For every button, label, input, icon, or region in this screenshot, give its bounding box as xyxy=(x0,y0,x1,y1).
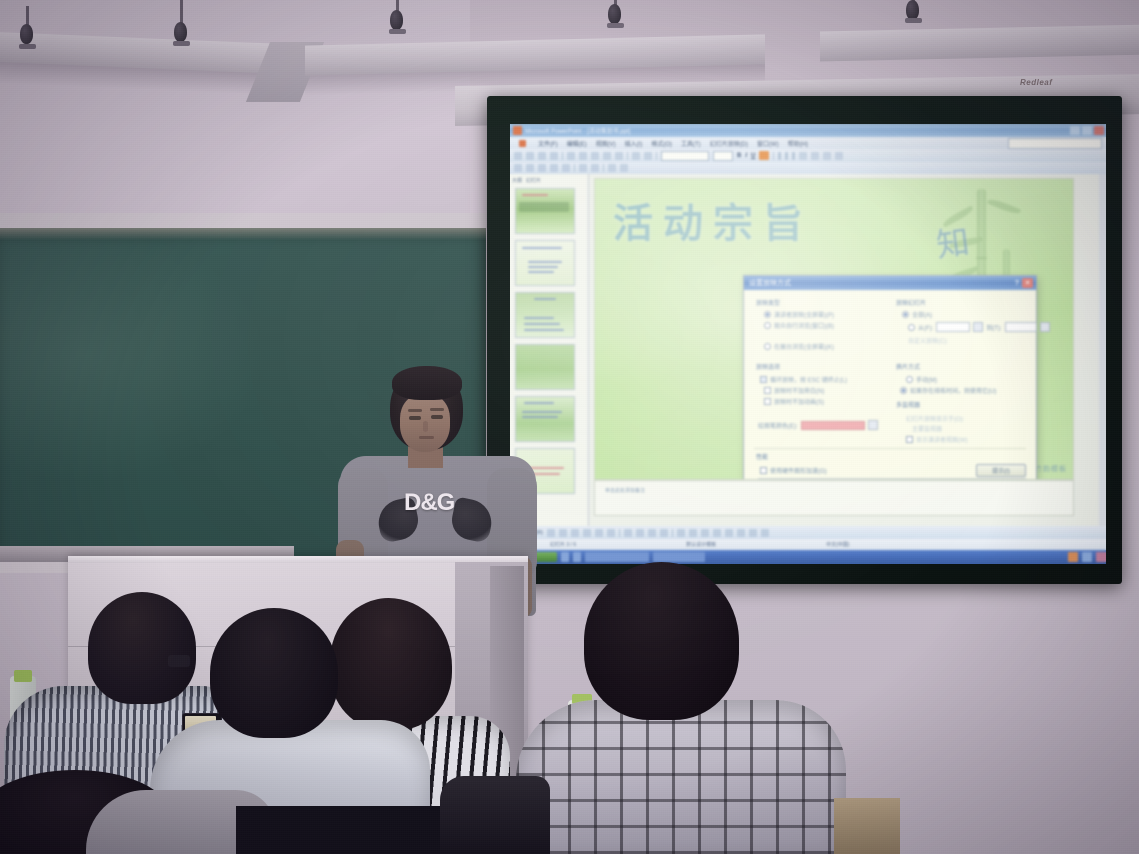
thumbnail-list[interactable]: 1 2 3 xyxy=(515,188,577,500)
align-right-icon[interactable] xyxy=(792,152,795,160)
radio-icon xyxy=(906,376,913,383)
status-bar: 幻灯片 3 / 6 默认设计模板 中文(中国) xyxy=(510,539,1106,550)
option-label: 在展台浏览(全屏幕)(K) xyxy=(774,342,834,351)
radio-icon xyxy=(764,311,771,318)
radio-browsed-by-individual[interactable]: 观众自行浏览(窗口)(B) xyxy=(764,321,834,330)
3d-style-icon[interactable] xyxy=(761,529,769,537)
taskbar-item-folder[interactable] xyxy=(653,552,705,562)
light-base xyxy=(905,18,922,23)
audience-member-vertical-striped-head xyxy=(330,598,452,730)
rectangle-icon[interactable] xyxy=(583,529,591,537)
setup-show-dialog[interactable]: 设置放映方式 ? ✕ 放映类型 演讲者放映(全屏幕)(P) xyxy=(743,275,1037,480)
pen-color-swatch[interactable] xyxy=(801,421,865,430)
light-fixture-icon xyxy=(390,10,403,30)
ask-a-question-input[interactable] xyxy=(1008,138,1102,149)
display-monitor-value: 主要监视器 xyxy=(912,424,942,433)
classroom-photo: Redleaf Microsoft PowerPoint - [活动策划书.pp… xyxy=(0,0,1139,854)
option-label: 循环放映，按 ESC 键终止(L) xyxy=(770,375,847,384)
textbox-icon[interactable] xyxy=(607,529,615,537)
close-icon[interactable]: ✕ xyxy=(1022,278,1033,288)
decorative-character: 知 xyxy=(933,215,972,267)
radio-use-timings[interactable]: 如果存在排练时间，则使用它(U) xyxy=(900,386,996,395)
checkbox-icon xyxy=(764,387,771,394)
tab-slides[interactable]: 幻灯片 xyxy=(526,177,541,184)
show-slides-group-label: 放映幻灯片 xyxy=(896,298,926,307)
checkbox-show-without-animation[interactable]: 放映时不加动画(S) xyxy=(764,397,824,406)
slide-to-input[interactable] xyxy=(1005,322,1037,332)
select-objects-icon[interactable] xyxy=(547,529,555,537)
radio-advance-manually[interactable]: 手动(M) xyxy=(906,375,937,384)
projected-screen[interactable]: Microsoft PowerPoint - [活动策划书.ppt] 文件(F)… xyxy=(510,124,1106,564)
option-label: 演讲者放映(全屏幕)(P) xyxy=(774,310,834,319)
arrow-style-icon[interactable] xyxy=(737,529,745,537)
dash-style-icon[interactable] xyxy=(725,529,733,537)
toolbar-separator xyxy=(619,529,620,537)
slide-title: 活动宗旨 xyxy=(613,191,813,249)
shadow-icon[interactable] xyxy=(538,164,546,172)
print-icon[interactable] xyxy=(550,152,558,160)
thumbnail-slide-1[interactable]: 1 xyxy=(515,188,575,234)
radio-icon xyxy=(764,322,771,329)
dialog-title: 设置放映方式 xyxy=(749,278,791,288)
tray-icon[interactable] xyxy=(1068,552,1078,562)
italic-button[interactable]: I xyxy=(745,153,747,159)
foreground-arm xyxy=(440,776,550,854)
vertical-scrollbar[interactable] xyxy=(1099,174,1106,526)
undo-icon[interactable] xyxy=(603,152,611,160)
quicklaunch-icon[interactable] xyxy=(573,552,581,562)
light-fixture-icon xyxy=(906,0,919,20)
checkbox-loop-until-esc[interactable]: 循环放映，按 ESC 键终止(L) xyxy=(760,375,847,384)
light-fixture-icon xyxy=(174,22,187,42)
radio-all-slides[interactable]: 全部(A) xyxy=(902,310,932,319)
open-icon[interactable] xyxy=(526,152,534,160)
maximize-icon[interactable] xyxy=(1082,126,1092,135)
font-name-select[interactable] xyxy=(661,151,709,161)
current-slide[interactable]: 知 活动宗旨 竹韵模板 设置放映方式 ? ✕ xyxy=(594,178,1074,480)
toolbar-separator xyxy=(562,152,563,160)
performance-group-label: 性能 xyxy=(756,452,768,461)
spelling-icon[interactable] xyxy=(579,164,587,172)
thumbnail-slide-4[interactable]: 4 xyxy=(515,344,575,390)
classroom-desk xyxy=(834,798,900,854)
demote-icon[interactable] xyxy=(562,164,570,172)
to-spinner[interactable] xyxy=(1040,322,1050,332)
new-slide-icon[interactable] xyxy=(835,152,843,160)
align-left-icon[interactable] xyxy=(778,152,781,160)
light-fixture-icon xyxy=(20,24,33,44)
menu-item-edit[interactable]: 编辑(E) xyxy=(567,139,587,148)
quicklaunch-icon[interactable] xyxy=(561,552,569,562)
light-base xyxy=(173,41,190,46)
slide-canvas[interactable]: 知 活动宗旨 竹韵模板 设置放映方式 ? ✕ xyxy=(594,178,1072,478)
status-design-template: 默认设计模板 xyxy=(686,541,716,548)
option-label: 自定义放映(C): xyxy=(908,336,948,345)
menu-item-help[interactable]: 帮助(H) xyxy=(788,139,808,148)
decrease-font-icon[interactable] xyxy=(526,164,534,172)
radio-slide-range[interactable]: 从(F): 到(T): xyxy=(908,322,1050,332)
status-slide-number: 幻灯片 3 / 6 xyxy=(550,541,576,548)
option-label-from: 从(F): xyxy=(918,323,933,332)
menu-item-tools[interactable]: 工具(T) xyxy=(681,139,701,148)
dialog-title-bar: 设置放映方式 ? ✕ xyxy=(744,276,1036,290)
light-fixture-icon xyxy=(608,4,621,24)
shirt-logo-text: D&G xyxy=(404,489,454,517)
presenter-mouth xyxy=(419,436,434,439)
radio-icon xyxy=(764,343,771,350)
presenter-eye xyxy=(409,416,421,420)
bullets-icon[interactable] xyxy=(799,152,807,160)
highlight-icon[interactable] xyxy=(759,151,769,160)
wordart-icon[interactable] xyxy=(624,529,632,537)
light-base xyxy=(389,29,406,34)
audience-member-striped-head xyxy=(88,592,196,704)
toolbar-separator xyxy=(672,529,673,537)
window-buttons[interactable] xyxy=(1070,126,1104,135)
minimize-icon[interactable] xyxy=(1070,126,1080,135)
powerpoint-title-bar: Microsoft PowerPoint - [活动策划书.ppt] xyxy=(510,124,1106,137)
option-label: 手动(M) xyxy=(916,375,937,384)
checkbox-icon xyxy=(760,376,767,383)
menu-item-slideshow[interactable]: 幻灯片放映(D) xyxy=(710,139,748,148)
document-icon xyxy=(519,140,526,147)
pen-color-row[interactable]: 绘图笔颜色(E): xyxy=(758,420,878,430)
thumbnail-slide-5[interactable]: 5 xyxy=(515,396,575,442)
screen-brand-label: Redleaf xyxy=(1020,78,1090,90)
pen-color-label: 绘图笔颜色(E): xyxy=(758,421,798,430)
oval-icon[interactable] xyxy=(595,529,603,537)
increase-font-icon[interactable] xyxy=(514,164,522,172)
checkbox-icon xyxy=(764,398,771,405)
tray-icon[interactable] xyxy=(1082,552,1092,562)
save-icon[interactable] xyxy=(538,152,546,160)
audience-member-plaid-body xyxy=(516,700,846,854)
slide-from-input[interactable] xyxy=(936,322,970,332)
checkbox-hardware-acceleration[interactable]: 使用硬件图形加速(G) xyxy=(760,466,827,475)
from-spinner[interactable] xyxy=(973,322,983,332)
line-color-icon[interactable] xyxy=(689,529,697,537)
align-center-icon[interactable] xyxy=(785,152,788,160)
status-language: 中文(中国) xyxy=(826,541,849,548)
checkbox-presenter-view[interactable]: 显示演讲者视图(W) xyxy=(906,435,968,444)
diagram-icon[interactable] xyxy=(636,529,644,537)
clipart-icon[interactable] xyxy=(648,529,656,537)
help-icon[interactable]: ? xyxy=(1015,280,1019,287)
presenter-nose xyxy=(423,421,428,432)
redo-icon[interactable] xyxy=(615,152,623,160)
show-type-group-label: 放映类型 xyxy=(756,298,780,307)
research-icon[interactable] xyxy=(591,164,599,172)
font-size-select[interactable] xyxy=(713,151,733,161)
standard-toolbar[interactable]: B I U xyxy=(510,149,1106,162)
light-base xyxy=(607,23,624,28)
line-icon[interactable] xyxy=(559,529,567,537)
menu-item-file[interactable]: 文件(F) xyxy=(538,139,558,148)
option-label-to: 到(T): xyxy=(986,323,1001,332)
slide-watermark: 竹韵模板 xyxy=(1035,464,1067,474)
shadow-style-icon[interactable] xyxy=(749,529,757,537)
picture-icon[interactable] xyxy=(660,529,668,537)
checkbox-show-without-narration[interactable]: 放映时不加旁白(N) xyxy=(764,386,824,395)
bottle-cap xyxy=(14,670,32,682)
foreground-dark-mass xyxy=(236,806,466,854)
toolbar-separator xyxy=(656,152,657,160)
multi-monitor-group-label: 多监视器 xyxy=(896,400,920,409)
option-label: 全部(A) xyxy=(912,310,932,319)
menu-item-window[interactable]: 窗口(W) xyxy=(757,139,779,148)
thumbnail-slide-2[interactable]: 2 xyxy=(515,240,575,286)
notes-pane[interactable]: 单击此处添加备注 xyxy=(594,480,1074,516)
windows-taskbar[interactable] xyxy=(510,550,1106,564)
new-icon[interactable] xyxy=(514,152,522,160)
close-icon[interactable] xyxy=(1094,126,1104,135)
toolbar-separator xyxy=(603,164,604,172)
thumbnail-slide-3[interactable]: 3 xyxy=(515,292,575,338)
option-label: 放映时不加动画(S) xyxy=(774,397,824,406)
zoom-icon[interactable] xyxy=(620,164,628,172)
presenter-eyebrow xyxy=(430,408,444,411)
copy-icon[interactable] xyxy=(579,152,587,160)
font-color-icon[interactable] xyxy=(701,529,709,537)
option-label: 使用硬件图形加速(G) xyxy=(770,466,827,475)
light-base xyxy=(19,44,36,49)
option-label: 放映时不加旁白(N) xyxy=(774,386,824,395)
advance-slides-group-label: 换片方式 xyxy=(896,362,920,371)
presenter-eye xyxy=(431,415,443,419)
display-slideshow-on-label: 幻灯片放映显示于(O): xyxy=(906,414,964,423)
audience-member-white-shirt-head xyxy=(210,608,338,738)
option-label: 如果存在排练时间，则使用它(U) xyxy=(910,386,996,395)
option-label: 观众自行浏览(窗口)(B) xyxy=(774,321,834,330)
radio-icon xyxy=(900,387,907,394)
promote-icon[interactable] xyxy=(550,164,558,172)
menu-item-insert[interactable]: 插入(I) xyxy=(625,139,643,148)
audience-member-plaid-head xyxy=(584,562,739,720)
paste-icon[interactable] xyxy=(591,152,599,160)
underline-button[interactable]: U xyxy=(751,153,755,159)
presenter-eyebrow xyxy=(408,409,422,412)
tab-outline[interactable]: 大纲 xyxy=(512,177,522,184)
fill-color-icon[interactable] xyxy=(677,529,685,537)
line-style-icon[interactable] xyxy=(713,529,721,537)
design-icon[interactable] xyxy=(823,152,831,160)
taskbar-item-ppt[interactable] xyxy=(585,552,649,562)
radio-icon xyxy=(908,324,915,331)
checkbox-icon xyxy=(760,467,767,474)
cut-icon[interactable] xyxy=(567,152,575,160)
checkbox-icon xyxy=(906,436,913,443)
menu-item-format[interactable]: 格式(O) xyxy=(651,139,672,148)
drawing-toolbar[interactable]: 绘图(R) xyxy=(510,526,1106,539)
radio-browsed-at-kiosk[interactable]: 在展台浏览(全屏幕)(K) xyxy=(764,342,834,351)
outline-slides-tabs[interactable]: 大纲 幻灯片 xyxy=(512,176,586,185)
presenter-hair xyxy=(392,366,462,400)
powerpoint-icon xyxy=(513,126,522,135)
show-options-group-label: 放映选项 xyxy=(756,362,780,371)
window-title: Microsoft PowerPoint - [活动策划书.ppt] xyxy=(525,126,630,135)
radio-icon xyxy=(902,311,909,318)
arrow-icon[interactable] xyxy=(571,529,579,537)
notes-placeholder: 单击此处添加备注 xyxy=(605,487,645,494)
toolbar-separator xyxy=(574,164,575,172)
option-label: 显示演讲者视图(W) xyxy=(916,435,968,444)
menu-item-view[interactable]: 视图(V) xyxy=(596,139,616,148)
hyperlink-icon[interactable] xyxy=(608,164,616,172)
toolbar-separator xyxy=(627,152,628,160)
powerpoint-window[interactable]: Microsoft PowerPoint - [活动策划书.ppt] 文件(F)… xyxy=(510,124,1106,564)
formatting-toolbar[interactable] xyxy=(510,162,1106,174)
eyeglasses xyxy=(168,655,190,667)
radio-custom-show[interactable]: 自定义放映(C): xyxy=(908,336,948,345)
numbering-icon[interactable] xyxy=(811,152,819,160)
dialog-body: 放映类型 演讲者放映(全屏幕)(P) 观众自行浏览(窗口)(B) xyxy=(744,290,1036,480)
tray-clock[interactable] xyxy=(1096,552,1106,562)
toolbar-separator xyxy=(773,152,774,160)
pen-color-dropdown-icon[interactable] xyxy=(868,420,878,430)
chart-icon[interactable] xyxy=(644,152,652,160)
blackboard-highlight xyxy=(0,228,486,240)
radio-presenter-fullscreen[interactable]: 演讲者放映(全屏幕)(P) xyxy=(764,310,834,319)
bold-button[interactable]: B xyxy=(737,153,741,159)
table-icon[interactable] xyxy=(632,152,640,160)
tips-button[interactable]: 提示(I) xyxy=(976,464,1026,477)
